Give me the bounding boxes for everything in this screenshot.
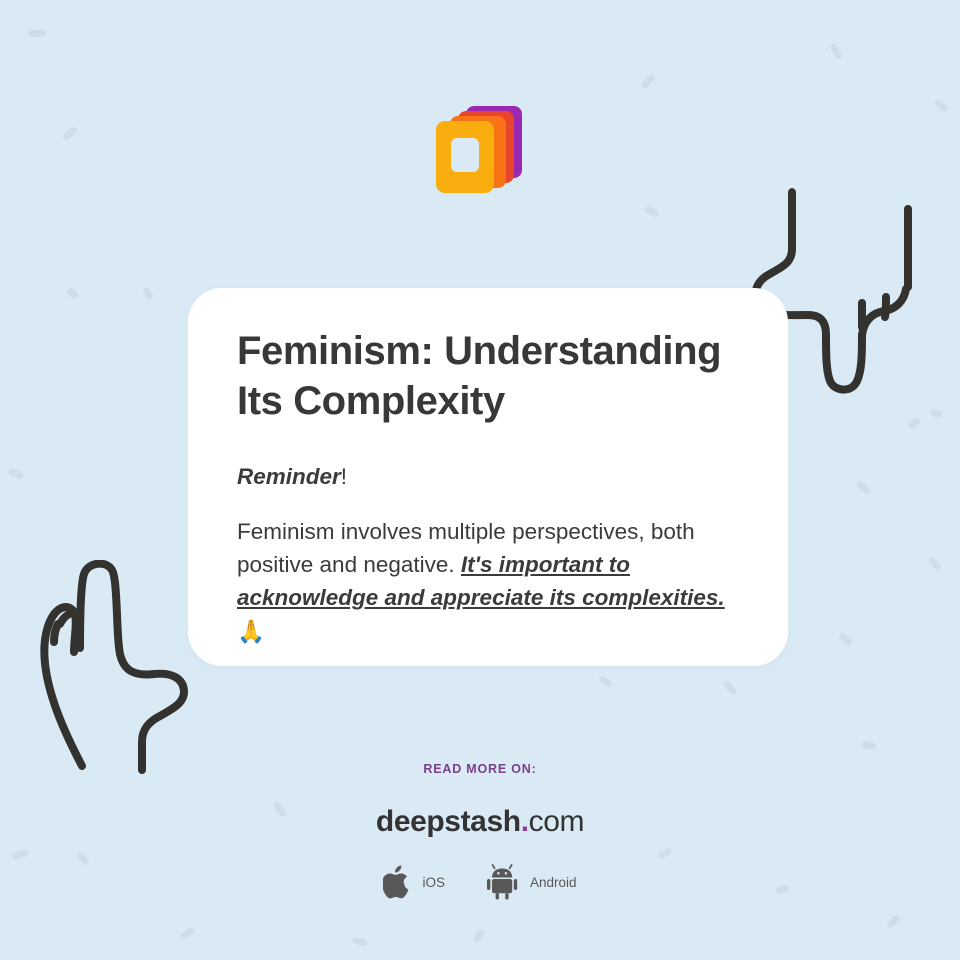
body-line: Feminism involves multiple perspectives,… [237, 515, 738, 649]
confetti-dash [7, 467, 24, 480]
confetti-dash [928, 556, 942, 571]
confetti-dash [907, 417, 922, 431]
android-label: Android [530, 875, 577, 890]
logo-inner-cutout [451, 138, 479, 172]
idea-card: Feminism: Understanding Its Complexity R… [188, 288, 788, 666]
footer: READ MORE ON: deepstash.com iOS [0, 762, 960, 900]
confetti-dash [886, 914, 902, 930]
page-title: Feminism: Understanding Its Complexity [237, 326, 738, 426]
confetti-dash [855, 480, 871, 495]
confetti-dash [930, 409, 943, 418]
wordmark-dot: . [521, 805, 529, 838]
confetti-dash [838, 632, 854, 647]
confetti-dash [472, 928, 486, 943]
deepstash-logo [0, 98, 960, 206]
confetti-dash [28, 30, 46, 37]
confetti-dash [640, 73, 656, 90]
deepstash-logo-svg [434, 102, 526, 202]
store-badges: iOS Android [0, 864, 960, 900]
folded-hands-emoji: 🙏 [237, 619, 265, 645]
confetti-dash [352, 937, 368, 946]
android-store-badge[interactable]: Android [487, 864, 577, 900]
ios-store-badge[interactable]: iOS [383, 864, 445, 900]
confetti-dash [597, 674, 613, 688]
confetti-dash [179, 926, 195, 940]
card-canvas: Feminism: Understanding Its Complexity R… [0, 0, 960, 960]
ios-label: iOS [422, 875, 445, 890]
android-icon [487, 864, 521, 900]
pointing-up-hand-bottom-left-illustration [24, 560, 209, 780]
confetti-dash [65, 287, 79, 301]
confetti-dash [643, 205, 659, 219]
wordmark-tld: com [529, 805, 584, 838]
deepstash-wordmark[interactable]: deepstash.com [0, 806, 960, 838]
confetti-dash [861, 741, 876, 751]
confetti-dash [829, 43, 843, 60]
apple-icon [383, 864, 413, 900]
reminder-punctuation: ! [341, 464, 347, 489]
confetti-dash [722, 679, 738, 696]
read-more-label: READ MORE ON: [0, 762, 960, 776]
confetti-dash [142, 287, 154, 301]
reminder-line: Reminder! [237, 460, 738, 493]
wordmark-name: deepstash [376, 805, 521, 838]
reminder-emphasis: Reminder [237, 464, 341, 489]
